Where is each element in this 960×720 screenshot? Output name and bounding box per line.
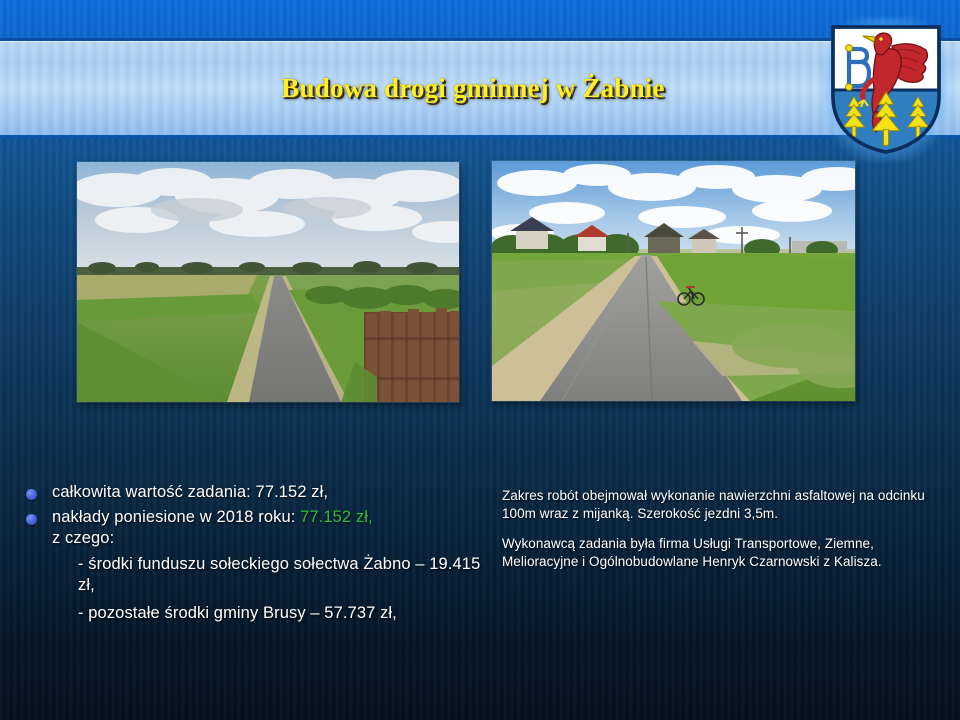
project-description: Zakres robót obejmował wykonanie nawierz…	[502, 487, 934, 583]
sub-item-list: - środki funduszu sołeckiego sołectwa Ża…	[78, 554, 496, 624]
expenditure-label: nakłady poniesione w 2018 roku:	[52, 508, 300, 526]
expenditure-amount: 77.152 zł,	[300, 508, 373, 526]
page-title: Budowa drogi gminnej w Żabnie	[281, 73, 664, 104]
sub-list-item: - pozostałe środki gminy Brusy – 57.737 …	[78, 603, 496, 624]
bullet-text: całkowita wartość zadania: 77.152 zł,	[52, 482, 328, 503]
scope-paragraph: Zakres robót obejmował wykonanie nawierz…	[502, 487, 934, 522]
list-item: nakłady poniesione w 2018 roku: 77.152 z…	[26, 507, 496, 549]
list-item: całkowita wartość zadania: 77.152 zł,	[26, 482, 496, 503]
expenditure-breakdown-label: z czego:	[52, 529, 114, 547]
contractor-paragraph: Wykonawcą zadania była firma Usługi Tran…	[502, 535, 934, 570]
bullet-text: nakłady poniesione w 2018 roku: 77.152 z…	[52, 507, 373, 549]
photo-road-before-image	[77, 162, 459, 402]
total-value-text: całkowita wartość zadania: 77.152 zł,	[52, 483, 328, 501]
bullet-dot-icon	[26, 514, 37, 525]
sub-list-item: - środki funduszu sołeckiego sołectwa Ża…	[78, 554, 496, 596]
title-band: Budowa drogi gminnej w Żabnie	[0, 38, 960, 138]
photo-road-after	[492, 161, 855, 401]
presentation-slide: Budowa drogi gminnej w Żabnie	[0, 0, 960, 720]
financial-bullet-list: całkowita wartość zadania: 77.152 zł, na…	[26, 482, 496, 631]
coat-of-arms	[823, 18, 949, 161]
bullet-dot-icon	[26, 489, 37, 500]
crest-icon	[830, 24, 942, 155]
wooden-fence	[364, 308, 459, 402]
photo-road-before	[77, 162, 459, 402]
photo-road-after-image	[492, 161, 855, 401]
